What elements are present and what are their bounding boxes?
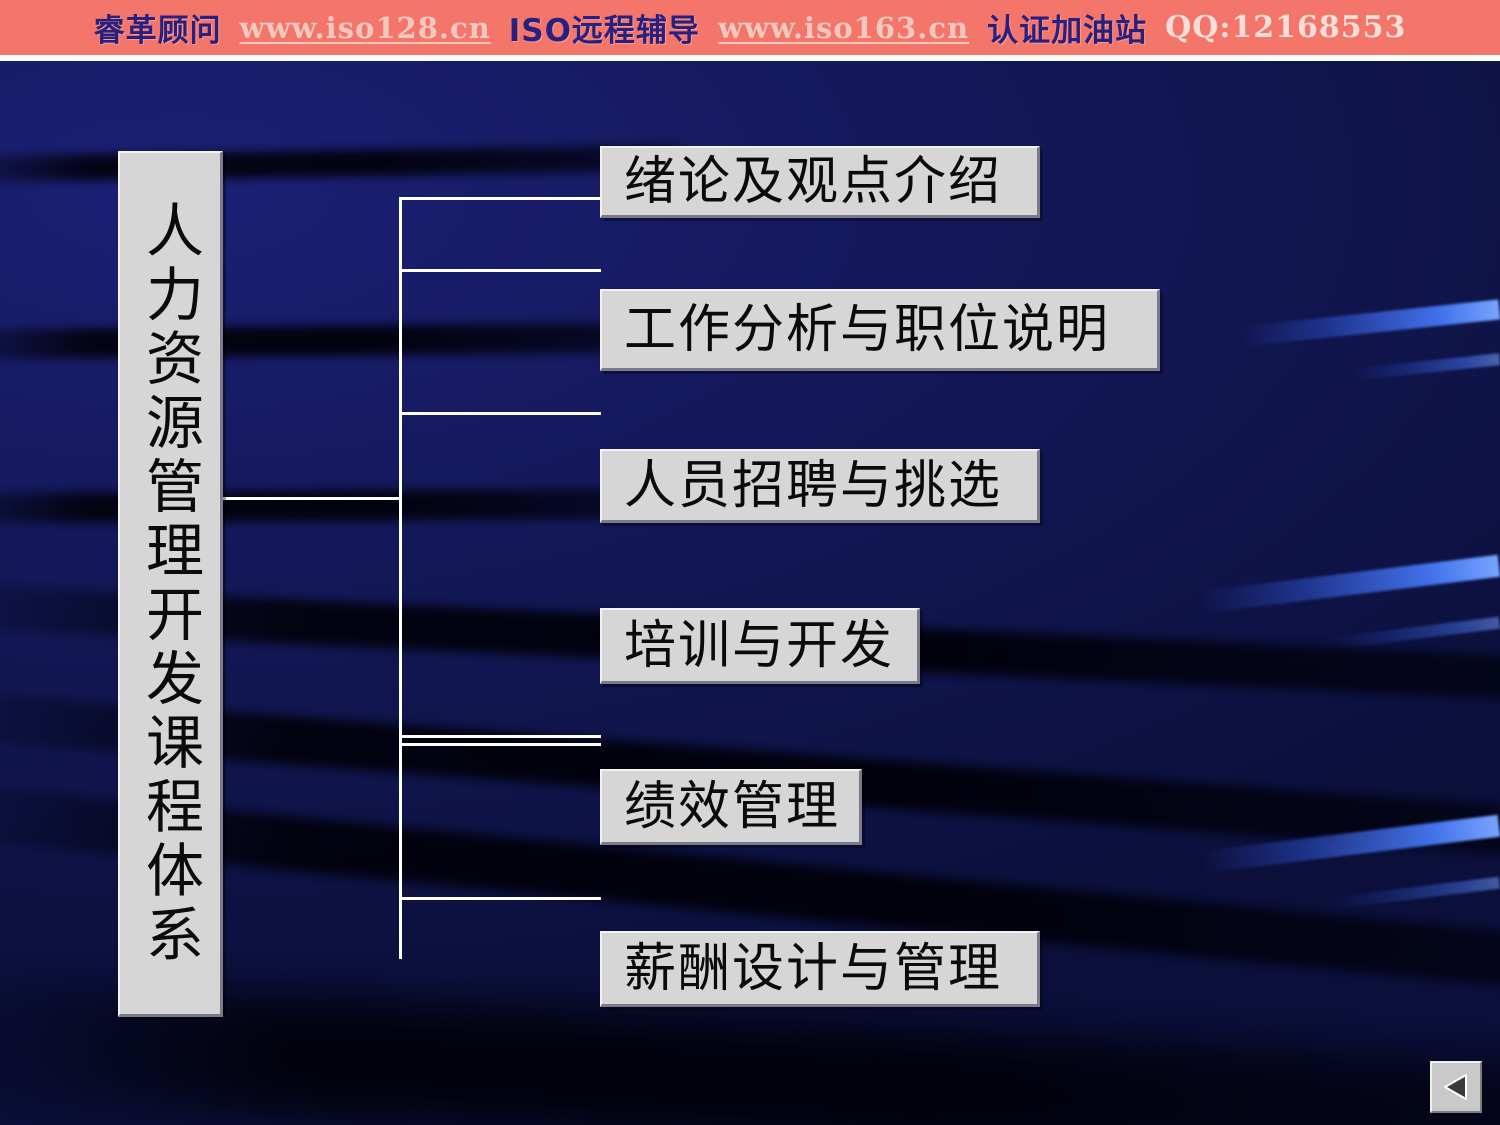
station-name: 认证加油站 [987, 5, 1147, 50]
topic-item-introduction[interactable]: 绪论及观点介绍 [600, 146, 1040, 218]
topic-item-recruitment[interactable]: 人员招聘与挑选 [600, 449, 1040, 523]
advertising-banner: 睿革顾问 www.iso128.cn ISO远程辅导 www.iso163.cn… [0, 0, 1500, 55]
qq-number: QQ:12168553 [1165, 10, 1406, 45]
topic-item-compensation[interactable]: 薪酬设计与管理 [600, 931, 1040, 1007]
website-link-1[interactable]: www.iso128.cn [240, 11, 491, 45]
topic-label: 培训与开发 [624, 620, 894, 672]
triangle-left-icon [1441, 1072, 1471, 1102]
topic-label: 人员招聘与挑选 [624, 460, 1002, 512]
course-system-title: 人力资源管理开发课程体系 [118, 151, 223, 1017]
brand-name: 睿革顾问 [94, 5, 222, 50]
slide-screenshot: 睿革顾问 www.iso128.cn ISO远程辅导 www.iso163.cn… [0, 0, 1500, 1125]
topic-item-training[interactable]: 培训与开发 [600, 608, 920, 684]
topic-item-performance[interactable]: 绩效管理 [600, 769, 862, 845]
course-system-title-label: 人力资源管理开发课程体系 [141, 200, 199, 968]
topic-item-job-analysis[interactable]: 工作分析与职位说明 [600, 289, 1160, 371]
service-name: ISO远程辅导 [509, 5, 700, 50]
banner-divider [0, 55, 1500, 61]
website-link-2[interactable]: www.iso163.cn [718, 11, 969, 45]
previous-slide-button[interactable] [1430, 1061, 1482, 1113]
slide-canvas: 人力资源管理开发课程体系 绪论及观点介绍 工作分析与职位说明 人员招聘与挑选 培… [0, 61, 1500, 1125]
topic-label: 绩效管理 [624, 781, 840, 833]
topic-label: 绪论及观点介绍 [624, 156, 1002, 208]
topic-label: 薪酬设计与管理 [624, 943, 1002, 995]
topic-label: 工作分析与职位说明 [624, 304, 1110, 356]
